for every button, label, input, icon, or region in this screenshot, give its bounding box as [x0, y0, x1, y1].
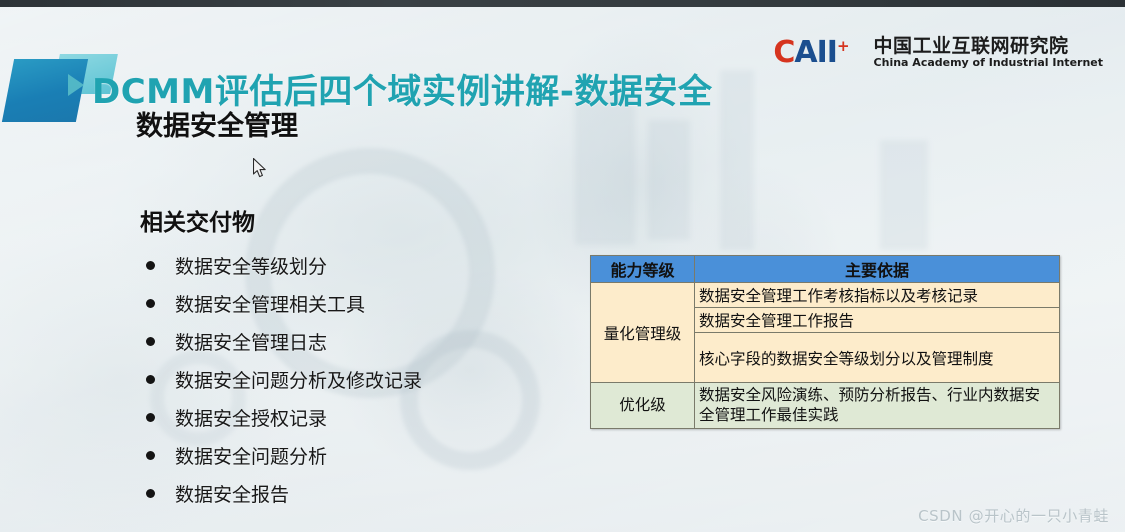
list-item-label: 数据安全授权记录 — [175, 404, 327, 431]
list-item-label: 数据安全报告 — [175, 480, 289, 507]
logo-divider — [861, 36, 862, 70]
slide-canvas: DCMM评估后四个域实例讲解-数据安全 CAII+ 中国工业互联网研究院 Chi… — [0, 0, 1125, 532]
column-header-basis: 主要依据 — [695, 256, 1060, 283]
list-item: 数据安全管理相关工具 — [146, 284, 422, 322]
slide-header: DCMM评估后四个域实例讲解-数据安全 CAII+ 中国工业互联网研究院 Chi… — [0, 24, 1125, 86]
background-machine-block-c — [720, 70, 754, 250]
list-item: 数据安全管理日志 — [146, 322, 422, 360]
triangle-right-icon — [68, 74, 84, 96]
bullet-dot-icon — [146, 261, 155, 270]
cell-basis: 数据安全风险演练、预防分析报告、行业内数据安全管理工作最佳实践 — [695, 383, 1060, 429]
background-machine-block-d — [880, 140, 928, 250]
logo-name-chinese: 中国工业互联网研究院 — [874, 36, 1103, 57]
cell-level-optimized: 优化级 — [591, 383, 695, 429]
section-title: 数据安全管理 — [136, 104, 298, 143]
table-row: 量化管理级 数据安全管理工作考核指标以及考核记录 — [591, 283, 1060, 308]
deliverables-list: 数据安全等级划分 数据安全管理相关工具 数据安全管理日志 数据安全问题分析及修改… — [146, 246, 422, 512]
logo-mark: CAII+ — [773, 38, 848, 68]
table-header-row: 能力等级 主要依据 — [591, 256, 1060, 283]
logo-letters-aii: AII — [794, 35, 837, 70]
list-item-label: 数据安全管理日志 — [175, 328, 327, 355]
logo-letter-c: C — [773, 35, 794, 70]
cell-basis: 数据安全管理工作报告 — [695, 308, 1060, 333]
capability-basis-table: 能力等级 主要依据 量化管理级 数据安全管理工作考核指标以及考核记录 数据安全管… — [590, 255, 1060, 429]
list-item: 数据安全授权记录 — [146, 398, 422, 436]
background-machine-block-a — [575, 95, 635, 245]
bullet-dot-icon — [146, 375, 155, 384]
list-item-label: 数据安全等级划分 — [175, 252, 327, 279]
logo-plus-icon: + — [837, 37, 849, 55]
mouse-pointer-icon — [253, 158, 267, 179]
watermark-text: CSDN @开心的一只小青蛙 — [918, 505, 1109, 526]
cell-level-quantitative: 量化管理级 — [591, 283, 695, 383]
cell-basis: 核心字段的数据安全等级划分以及管理制度 — [695, 333, 1060, 383]
list-item: 数据安全问题分析及修改记录 — [146, 360, 422, 398]
logo-name-english: China Academy of Industrial Internet — [874, 57, 1103, 69]
logo-wordmark: 中国工业互联网研究院 China Academy of Industrial I… — [874, 36, 1103, 70]
cell-basis: 数据安全管理工作考核指标以及考核记录 — [695, 283, 1060, 308]
bullet-dot-icon — [146, 413, 155, 422]
bullet-dot-icon — [146, 451, 155, 460]
list-item-label: 数据安全问题分析 — [175, 442, 327, 469]
list-item: 数据安全问题分析 — [146, 436, 422, 474]
list-item: 数据安全报告 — [146, 474, 422, 512]
list-item-label: 数据安全问题分析及修改记录 — [175, 366, 422, 393]
organization-logo: CAII+ 中国工业互联网研究院 China Academy of Indust… — [773, 36, 1103, 70]
background-machine-block-b — [648, 120, 690, 240]
list-item: 数据安全等级划分 — [146, 246, 422, 284]
column-header-level: 能力等级 — [591, 256, 695, 283]
bullet-dot-icon — [146, 489, 155, 498]
bullet-dot-icon — [146, 299, 155, 308]
table-row: 优化级 数据安全风险演练、预防分析报告、行业内数据安全管理工作最佳实践 — [591, 383, 1060, 429]
bullet-dot-icon — [146, 337, 155, 346]
top-edge-strip — [0, 0, 1125, 7]
subsection-title: 相关交付物 — [140, 203, 255, 237]
list-item-label: 数据安全管理相关工具 — [175, 290, 365, 317]
